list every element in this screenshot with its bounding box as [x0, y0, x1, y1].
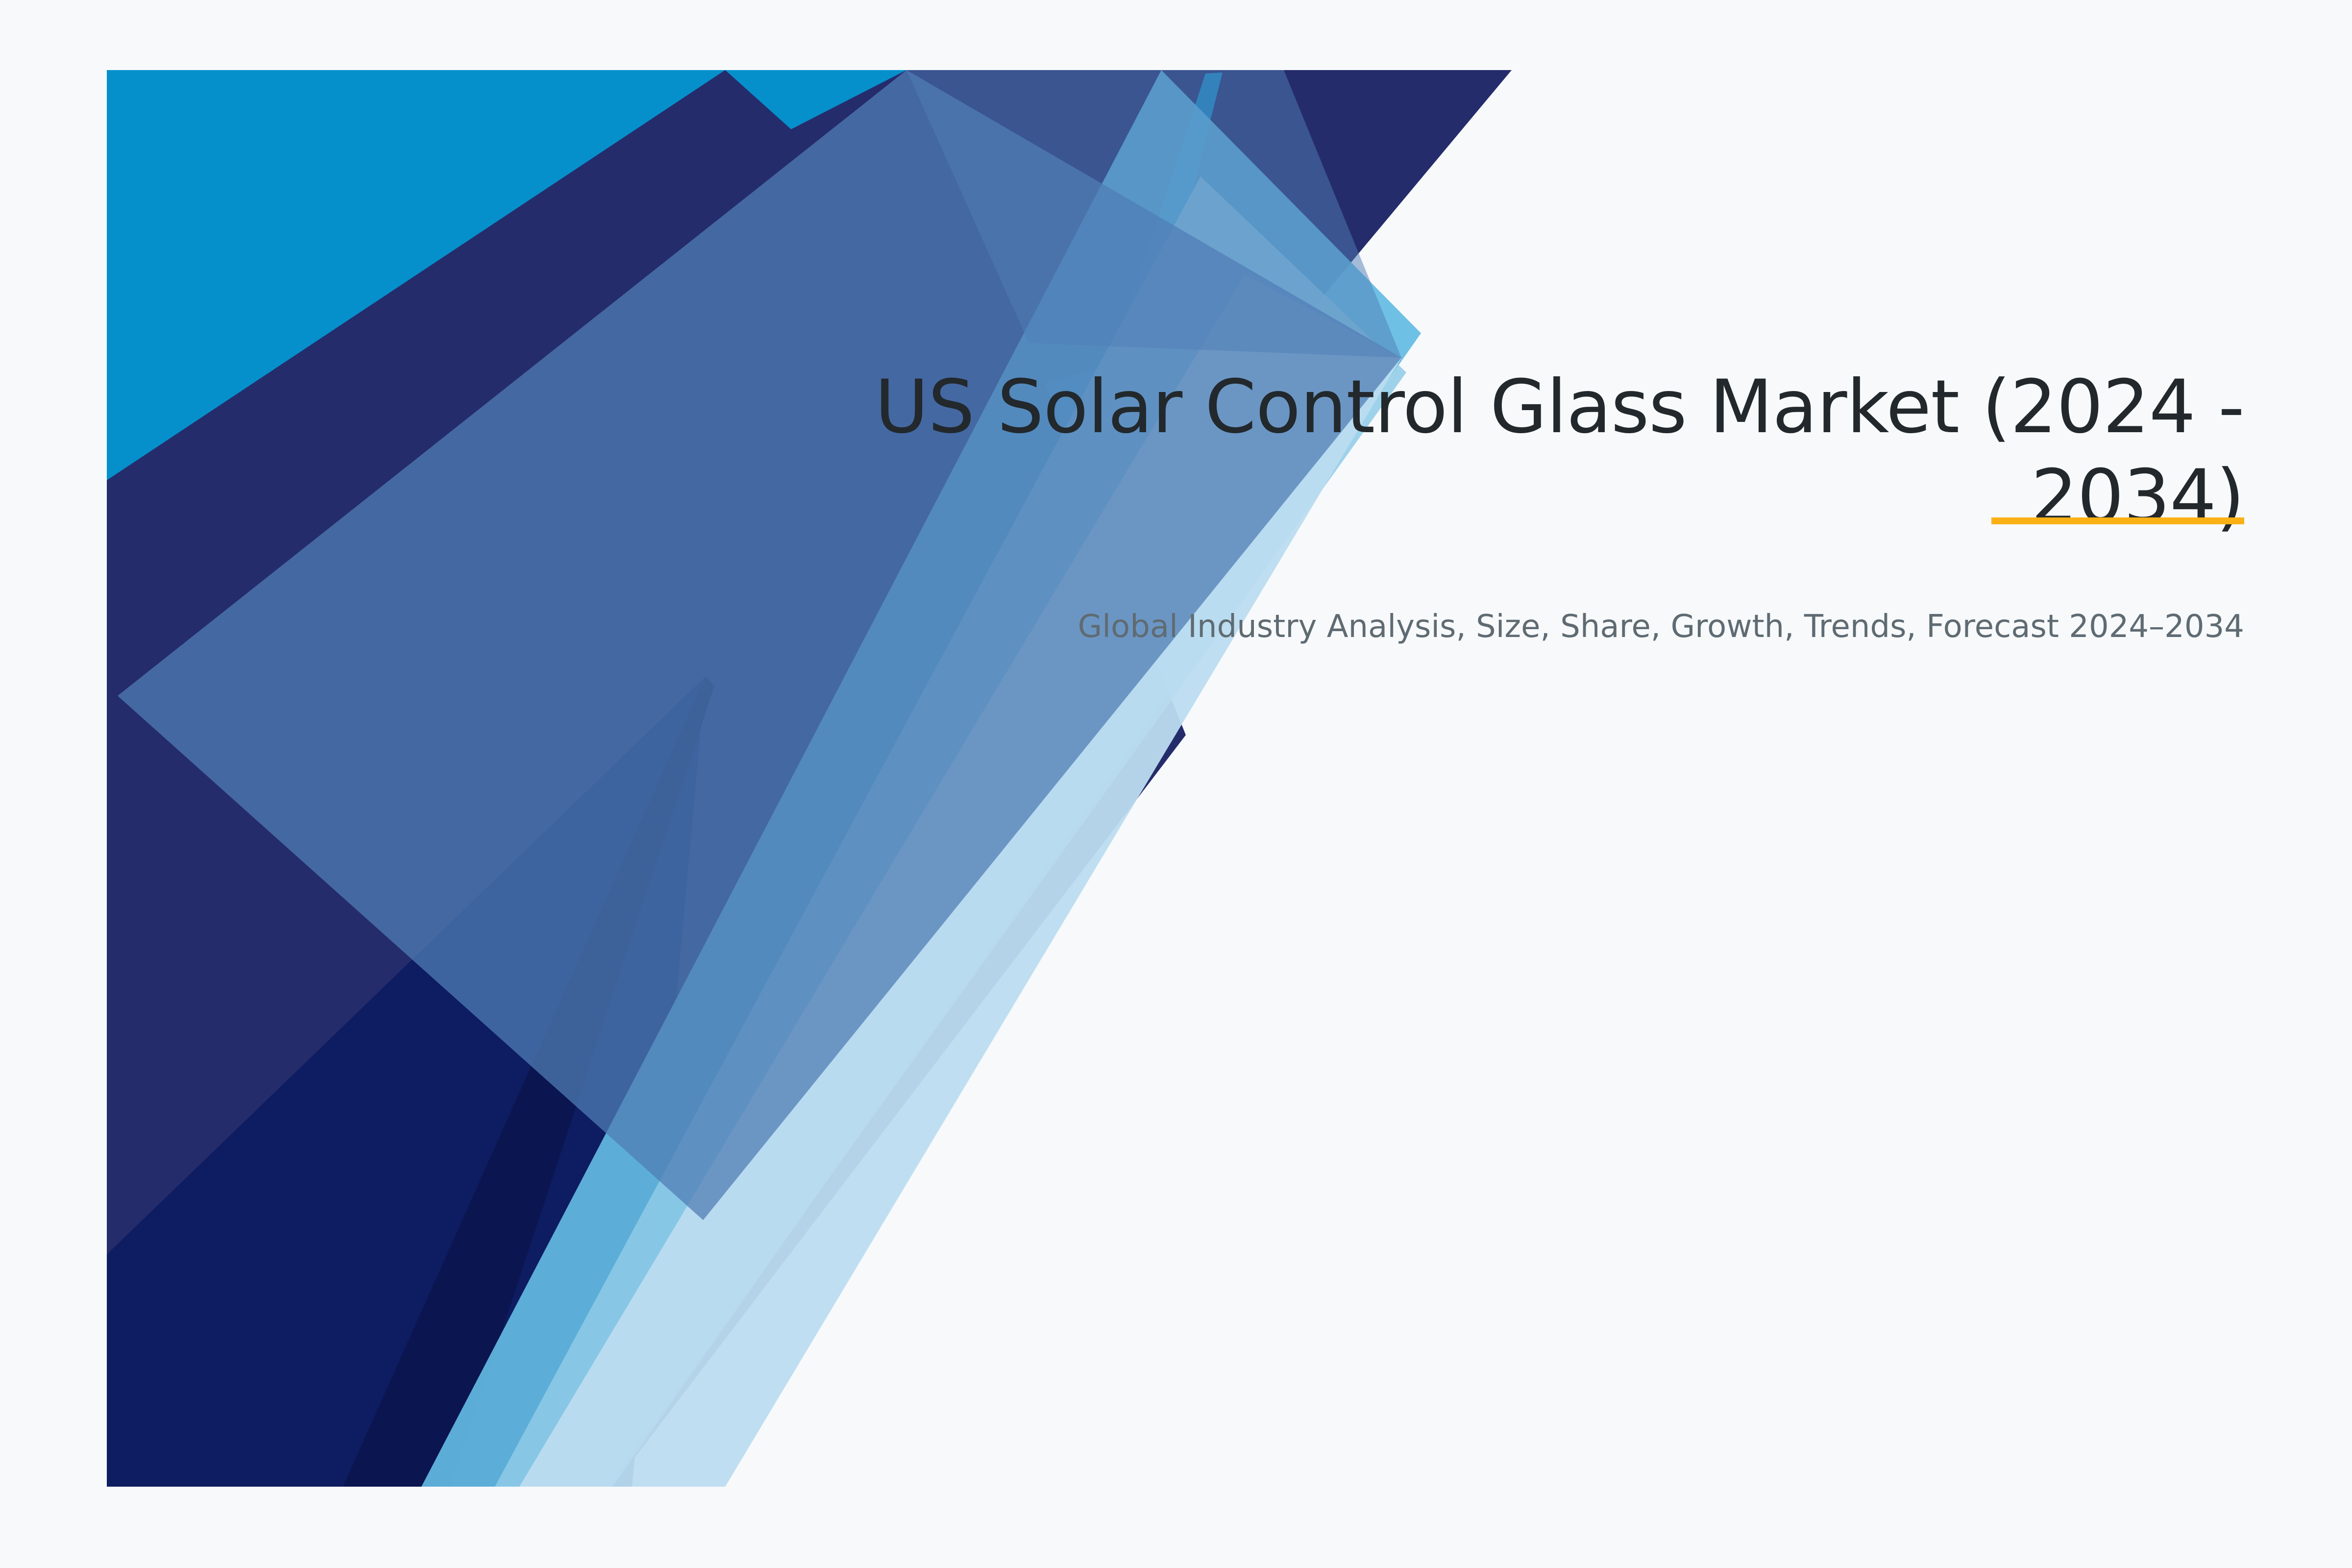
cover-text-block: US Solar Control Glass Market (2024 - 20…	[823, 363, 2244, 649]
abstract-geometric-artwork	[0, 0, 2352, 1568]
title-wrap: US Solar Control Glass Market (2024 - 20…	[823, 363, 2244, 542]
page-subtitle: Global Industry Analysis, Size, Share, G…	[823, 605, 2244, 649]
title-underline-accent	[1991, 517, 2244, 524]
artwork-mask-bottom	[0, 1487, 2352, 1568]
cover-slide: US Solar Control Glass Market (2024 - 20…	[0, 0, 2352, 1568]
artwork-mask-left	[0, 0, 107, 1568]
page-title: US Solar Control Glass Market (2024 - 20…	[823, 363, 2244, 542]
artwork-mask-top	[0, 0, 2352, 70]
